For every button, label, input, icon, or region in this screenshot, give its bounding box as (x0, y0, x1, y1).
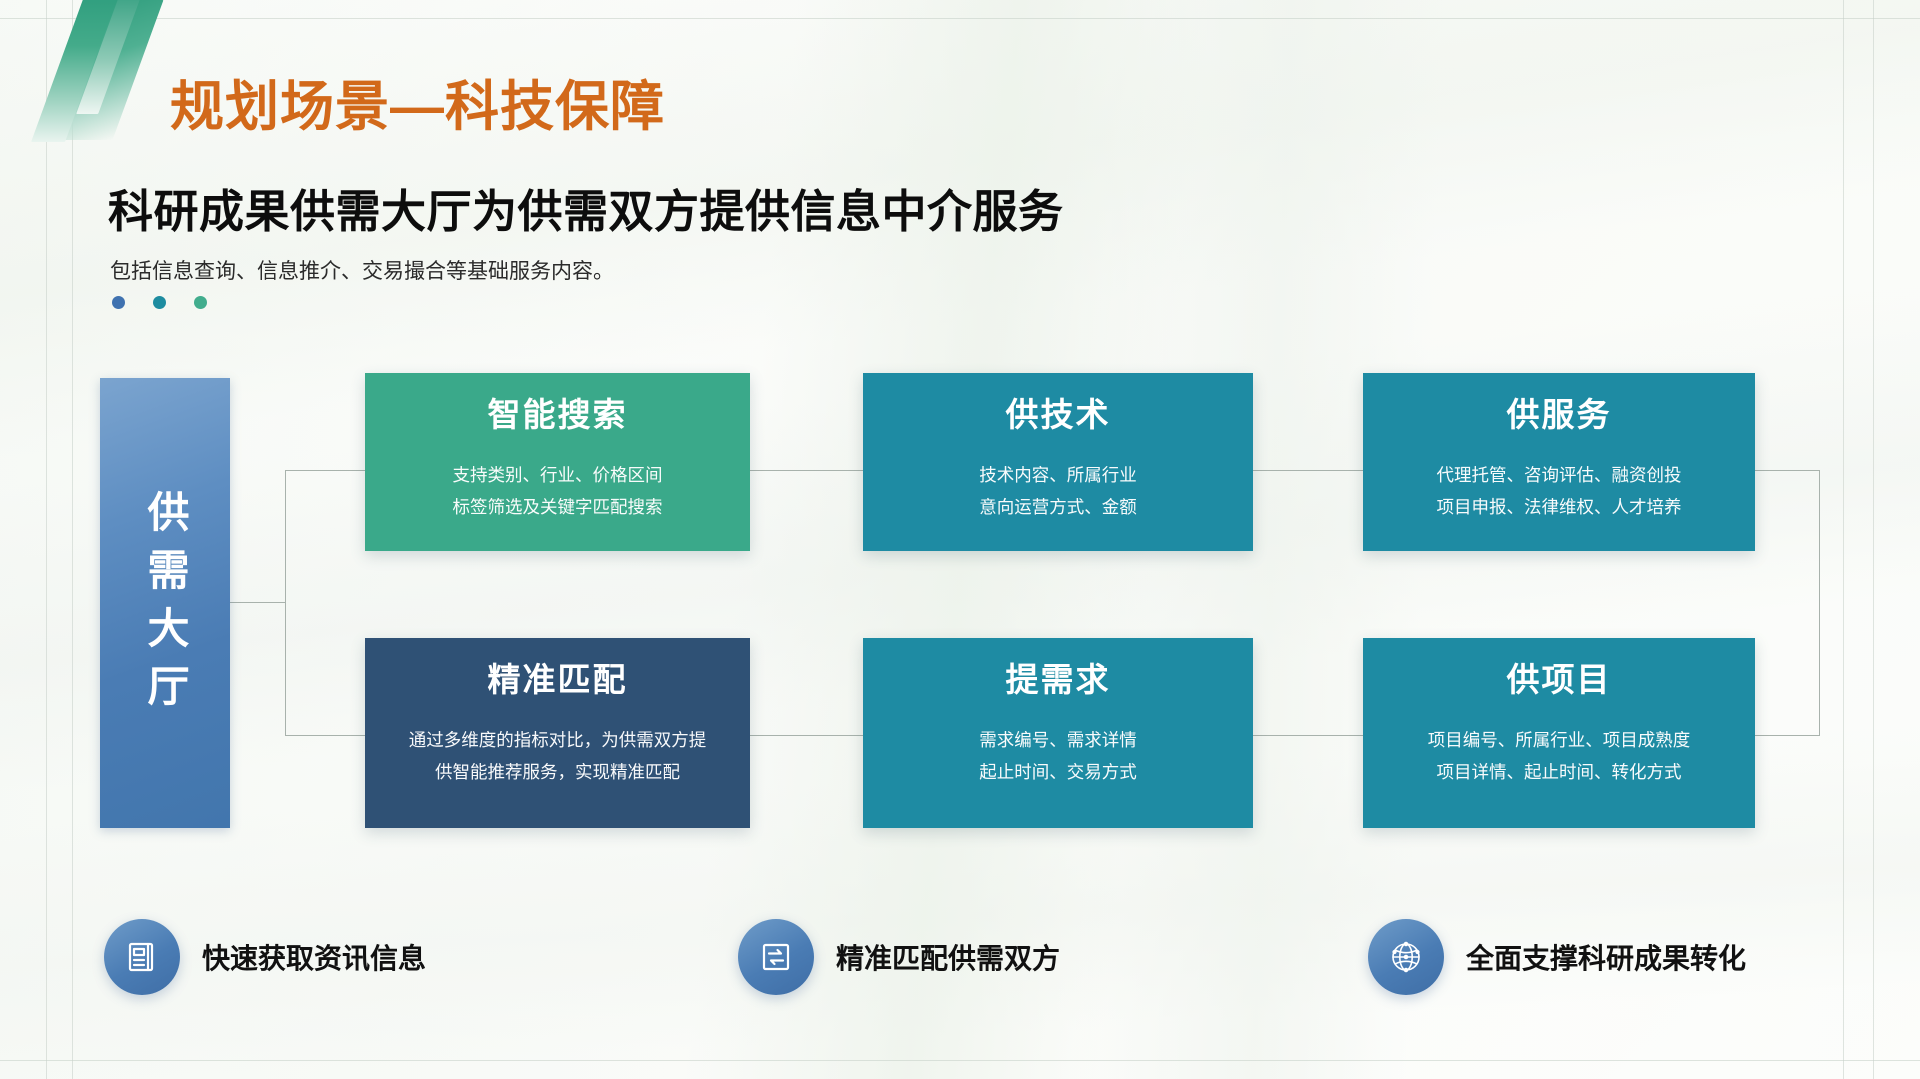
card-desc-line: 代理托管、咨询评估、融资创投 (1363, 459, 1755, 491)
connector-mid-top-1 (748, 470, 863, 471)
card-title: 提需求 (863, 660, 1253, 700)
card-precise-matching[interactable]: 精准匹配 通过多维度的指标对比，为供需双方提 供智能推荐服务，实现精准匹配 (365, 638, 750, 828)
card-title: 供技术 (863, 395, 1253, 435)
connector-left-spine (285, 470, 286, 735)
footer-item-label: 全面支撑科研成果转化 (1466, 937, 1746, 977)
connector-mid-bot-2 (1253, 735, 1363, 736)
card-desc-line: 起止时间、交易方式 (863, 756, 1253, 788)
connector-left-bot-arm (285, 735, 365, 736)
card-title: 供服务 (1363, 395, 1755, 435)
slide-canvas: 规划场景—科技保障 科研成果供需大厅为供需双方提供信息中介服务 包括信息查询、信… (0, 0, 1920, 1079)
card-smart-search[interactable]: 智能搜索 支持类别、行业、价格区间 标签筛选及关键字匹配搜索 (365, 373, 750, 551)
card-desc-line: 意向运营方式、金额 (863, 491, 1253, 523)
document-icon (104, 919, 180, 995)
card-title: 供项目 (1363, 660, 1755, 700)
card-description: 支持类别、行业、价格区间 标签筛选及关键字匹配搜索 (365, 459, 750, 524)
connector-right-spine (1819, 470, 1820, 736)
card-desc-line: 供智能推荐服务，实现精准匹配 (365, 756, 750, 788)
footer-item-precise-match[interactable]: 精准匹配供需双方 (738, 919, 1060, 995)
footer-item-label: 快速获取资讯信息 (202, 937, 426, 977)
card-title: 精准匹配 (365, 660, 750, 700)
card-description: 项目编号、所属行业、项目成熟度 项目详情、起止时间、转化方式 (1363, 724, 1755, 789)
card-supply-service[interactable]: 供服务 代理托管、咨询评估、融资创投 项目申报、法律维权、人才培养 (1363, 373, 1755, 551)
card-desc-line: 通过多维度的指标对比，为供需双方提 (365, 724, 750, 756)
card-desc-line: 需求编号、需求详情 (863, 724, 1253, 756)
card-description: 通过多维度的指标对比，为供需双方提 供智能推荐服务，实现精准匹配 (365, 724, 750, 789)
card-raise-demand[interactable]: 提需求 需求编号、需求详情 起止时间、交易方式 (863, 638, 1253, 828)
connector-mid-bot-1 (748, 735, 863, 736)
footer-item-full-support[interactable]: 全面支撑科研成果转化 (1368, 919, 1746, 995)
connector-hub-stem (230, 602, 285, 603)
connector-right-bot-arm (1755, 735, 1820, 736)
card-desc-line: 标签筛选及关键字匹配搜索 (365, 491, 750, 523)
connector-mid-top-2 (1253, 470, 1363, 471)
hub-supply-demand-hall[interactable]: 供需大厅 (100, 378, 230, 828)
footer-item-fast-info[interactable]: 快速获取资讯信息 (104, 919, 426, 995)
card-desc-line: 项目详情、起止时间、转化方式 (1363, 756, 1755, 788)
card-description: 代理托管、咨询评估、融资创投 项目申报、法律维权、人才培养 (1363, 459, 1755, 524)
footer-item-label: 精准匹配供需双方 (836, 937, 1060, 977)
card-desc-line: 项目编号、所属行业、项目成熟度 (1363, 724, 1755, 756)
connector-right-top-arm (1755, 470, 1820, 471)
hub-label: 供需大厅 (143, 484, 187, 722)
card-supply-technology[interactable]: 供技术 技术内容、所属行业 意向运营方式、金额 (863, 373, 1253, 551)
card-desc-line: 项目申报、法律维权、人才培养 (1363, 491, 1755, 523)
connector-left-top-arm (285, 470, 365, 471)
card-supply-project[interactable]: 供项目 项目编号、所属行业、项目成熟度 项目详情、起止时间、转化方式 (1363, 638, 1755, 828)
slide-footer: 快速获取资讯信息 精准匹配供需双方 (0, 879, 1920, 1079)
card-description: 技术内容、所属行业 意向运营方式、金额 (863, 459, 1253, 524)
card-title: 智能搜索 (365, 395, 750, 435)
card-description: 需求编号、需求详情 起止时间、交易方式 (863, 724, 1253, 789)
card-desc-line: 技术内容、所属行业 (863, 459, 1253, 491)
exchange-icon (738, 919, 814, 995)
card-desc-line: 支持类别、行业、价格区间 (365, 459, 750, 491)
globe-icon (1368, 919, 1444, 995)
